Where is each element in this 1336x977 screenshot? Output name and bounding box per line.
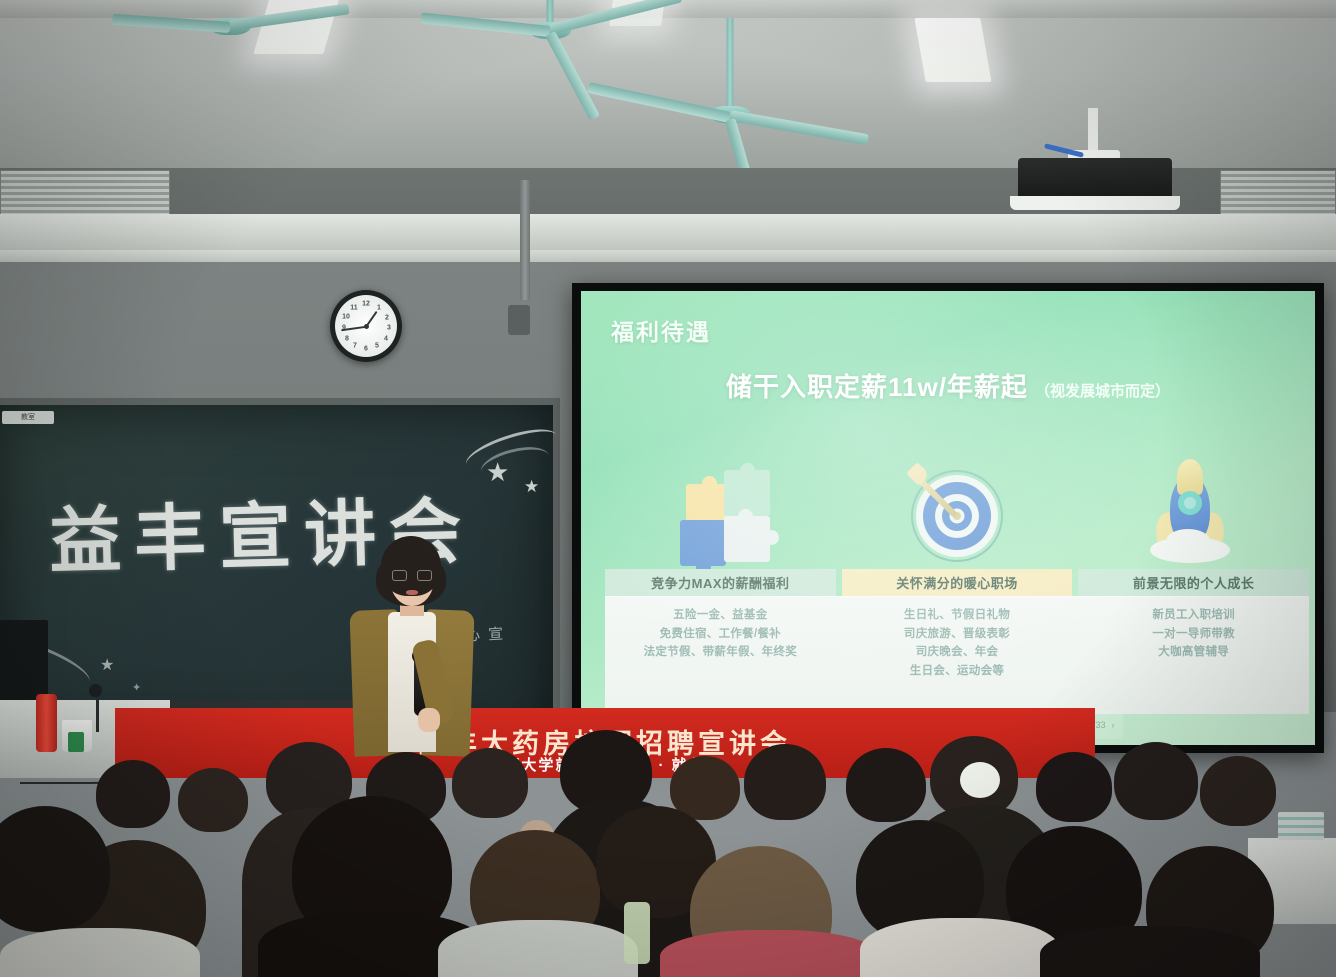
hair-scrunchie [960,762,1000,798]
slide-kicker: 福利待遇 [611,313,711,347]
rocket-icon [1144,461,1236,566]
column-header-3: 前景无限的个人成长 [1078,569,1309,596]
column-header-2: 关怀满分的暖心职场 [842,569,1073,596]
column-line: 生日会、运动会等 [842,662,1073,681]
icon-cell [1074,431,1307,566]
wall-clock: 12 1 2 3 4 5 6 7 8 9 10 11 [330,290,402,362]
projector-mount [1088,108,1098,154]
clock-numeral: 7 [353,343,357,350]
ceiling-light [914,18,991,82]
wall-pipe [520,180,530,300]
slide-headline-note: （视发展城市而定） [1035,380,1170,401]
clock-numeral: 8 [345,336,349,343]
clock-center [364,324,369,329]
column-body-2: 生日礼、节假日礼物 司庆旅游、晋级表彰 司庆晚会、年会 生日会、运动会等 [842,597,1073,714]
speaker-presenter [336,536,486,766]
ceiling-fan [120,0,340,66]
water-bottle [624,902,650,964]
star-icon: ★ [100,655,114,675]
clock-numeral: 6 [364,346,368,353]
clock-numeral: 5 [375,343,379,350]
projector [1018,158,1172,200]
slide-icon-row [607,431,1307,566]
next-page-icon[interactable]: › [1112,720,1115,730]
ceiling-fan [600,18,860,148]
projector-base [1010,196,1180,210]
slide-headline: 储干入职定薪11w/年薪起 （视发展城市而定） [726,367,1170,404]
column-line: 免费住宿、工作餐/餐补 [605,625,836,644]
eyeglasses-icon [392,570,432,582]
column-body-3: 新员工入职培训 一对一导师带教 大咖高管辅导 [1078,597,1309,714]
audience-head [0,806,110,932]
clock-numeral: 2 [385,315,389,322]
red-thermos [36,694,57,752]
slide: 福利待遇 储干入职定薪11w/年薪起 （视发展城市而定） [581,291,1315,745]
column-headers: 竞争力MAX的薪酬福利 关怀满分的暖心职场 前景无限的个人成长 [605,569,1309,596]
clock-numeral: 4 [384,336,388,343]
column-line: 司庆旅游、晋级表彰 [842,625,1073,644]
projection-screen: 福利待遇 储干入职定薪11w/年薪起 （视发展城市而定） [572,283,1324,753]
column-line: 大咖高管辅导 [1078,643,1309,662]
star-icon: ★ [524,477,539,497]
column-header-1: 竞争力MAX的薪酬福利 [605,569,836,596]
star-icon: ✦ [132,681,141,694]
column-line: 司庆晚会、年会 [842,643,1073,662]
classroom-photo: 12 1 2 3 4 5 6 7 8 9 10 11 教室 益丰宣讲会 服务中心… [0,0,1336,977]
column-line: 一对一导师带教 [1078,625,1309,644]
wall-vent [0,170,170,216]
wall-vent [1220,170,1336,216]
clock-numeral: 10 [342,314,350,321]
column-line: 生日礼、节假日礼物 [842,606,1073,625]
icon-cell [607,431,840,566]
column-line: 新员工入职培训 [1078,606,1309,625]
puzzle-icon [676,468,772,566]
slide-headline-main: 储干入职定薪11w/年薪起 [726,367,1028,404]
clock-face: 12 1 2 3 4 5 6 7 8 9 10 11 [335,295,397,357]
column-body-1: 五险一金、益基金 免费住宿、工作餐/餐补 法定节假、带薪年假、年终奖 [605,597,836,714]
column-line: 法定节假、带薪年假、年终奖 [605,643,836,662]
wall-speaker [508,305,530,335]
clock-numeral: 3 [387,325,391,332]
microphone-head-icon [89,684,102,697]
clock-numeral: 12 [362,301,370,308]
book-stack [1278,812,1324,840]
column-bodies: 五险一金、益基金 免费住宿、工作餐/餐补 法定节假、带薪年假、年终奖 生日礼、节… [605,596,1309,714]
target-icon [907,466,1007,566]
clock-numeral: 1 [377,305,381,312]
blackboard-tag: 教室 [2,411,54,424]
icon-cell [840,431,1073,566]
clock-numeral: 11 [350,305,357,312]
column-line: 五险一金、益基金 [605,606,836,625]
